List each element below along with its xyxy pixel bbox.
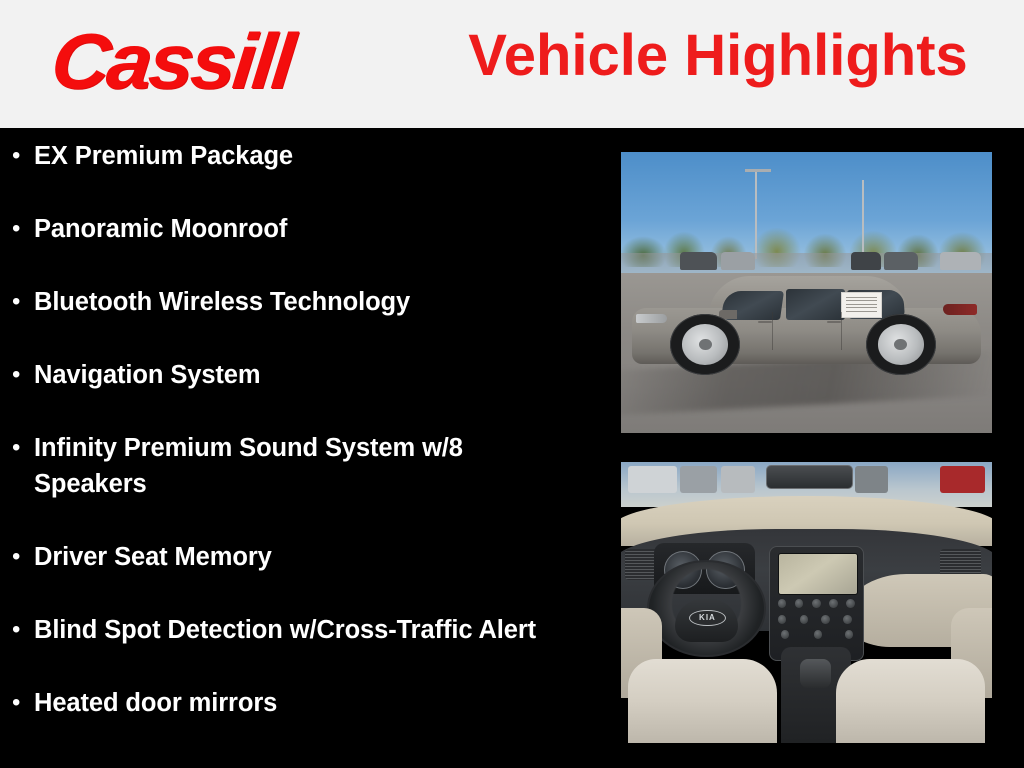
bullet-icon: • [12, 539, 34, 575]
list-item-label: Heated door mirrors [34, 685, 600, 721]
driver-seat [628, 659, 776, 743]
list-item: • EX Premium Package [0, 138, 600, 174]
list-item-label: Bluetooth Wireless Technology [34, 284, 600, 320]
vehicle-exterior-photo [621, 152, 992, 433]
list-item: • Blind Spot Detection w/Cross-Traffic A… [0, 612, 600, 648]
vehicle-interior-photo: KIA [621, 462, 992, 743]
background-vehicle [851, 252, 881, 270]
steering-wheel-hub: KIA [675, 599, 737, 642]
steering-wheel: KIA [647, 560, 766, 657]
navigation-screen [778, 553, 858, 595]
list-item-label: Blind Spot Detection w/Cross-Traffic Ale… [34, 612, 600, 648]
list-item-label: Infinity Premium Sound System w/8 Speake… [34, 430, 600, 502]
list-item: • Driver Seat Memory [0, 539, 600, 575]
door-handle [758, 321, 772, 324]
center-stack [769, 546, 864, 660]
bullet-icon: • [12, 357, 34, 393]
background-vehicle [855, 466, 888, 493]
window-sticker [841, 292, 881, 318]
rear-door-glass [786, 289, 845, 320]
list-item: • Panoramic Moonroof [0, 211, 600, 247]
door-handle [827, 321, 841, 324]
passenger-seat [836, 659, 984, 743]
list-item: • Heated door mirrors [0, 685, 600, 721]
list-item-label: EX Premium Package [34, 138, 600, 174]
background-vehicle [884, 252, 917, 270]
list-item: • Bluetooth Wireless Technology [0, 284, 600, 320]
cassill-logo: Cassill [48, 22, 296, 100]
slide-header: Cassill Vehicle Highlights [0, 0, 1024, 128]
bullet-icon: • [12, 612, 34, 648]
list-item: • Infinity Premium Sound System w/8 Spea… [0, 430, 600, 502]
bullet-icon: • [12, 211, 34, 247]
taillight [943, 304, 978, 315]
light-pole-arm [745, 169, 771, 172]
background-vehicle [940, 252, 981, 270]
background-vehicle [940, 466, 985, 493]
bullet-icon: • [12, 430, 34, 466]
bullet-icon: • [12, 138, 34, 174]
rear-wheel [866, 314, 936, 375]
list-item-label: Navigation System [34, 357, 600, 393]
gear-shifter [800, 659, 831, 688]
bullet-icon: • [12, 284, 34, 320]
slide-body: • EX Premium Package • Panoramic Moonroo… [0, 128, 1024, 768]
page-title: Vehicle Highlights [440, 24, 996, 88]
vehicle-highlights-list: • EX Premium Package • Panoramic Moonroo… [0, 138, 600, 758]
background-vehicle [721, 252, 754, 270]
light-pole-icon [755, 169, 757, 259]
list-item-label: Panoramic Moonroof [34, 211, 600, 247]
background-vehicle [680, 466, 717, 493]
list-item: • Navigation System [0, 357, 600, 393]
vehicle-body [632, 276, 981, 372]
background-vehicle [680, 252, 717, 270]
background-vehicle [628, 466, 676, 493]
rearview-mirror [766, 465, 853, 489]
headlight [636, 314, 667, 324]
front-wheel [670, 314, 740, 375]
kia-logo-icon: KIA [689, 610, 726, 626]
light-pole-icon [862, 180, 864, 259]
background-vehicle [721, 466, 754, 493]
list-item-label: Driver Seat Memory [34, 539, 600, 575]
bullet-icon: • [12, 685, 34, 721]
